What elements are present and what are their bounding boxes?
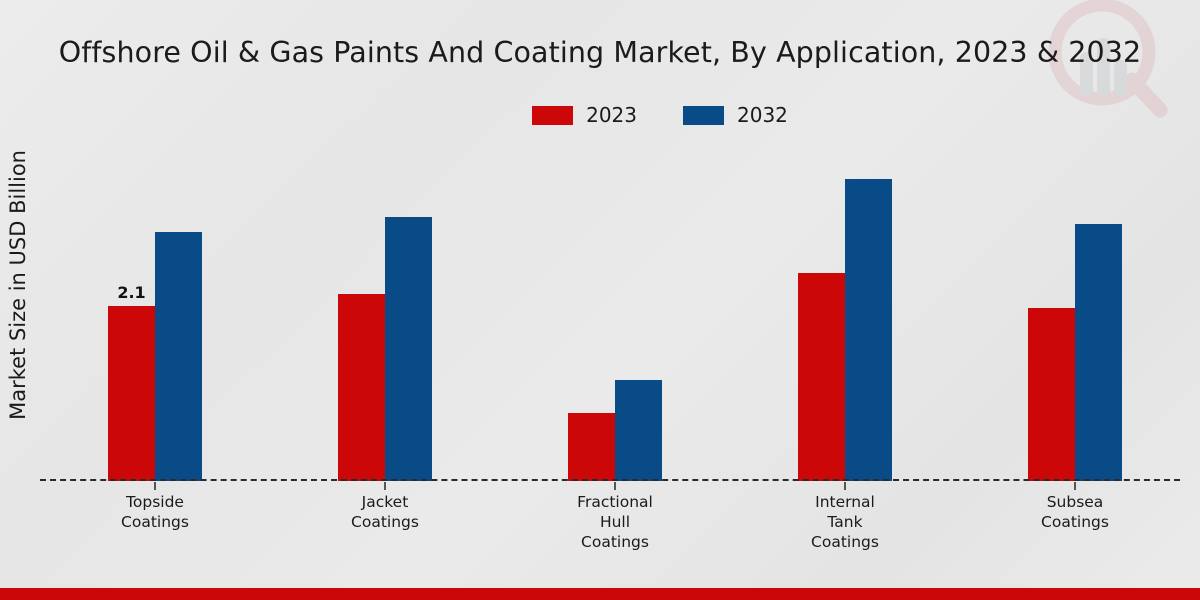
bar-groups: 2.1 bbox=[40, 140, 1190, 481]
legend-item-2023[interactable]: 2023 bbox=[532, 103, 637, 127]
bar-pair bbox=[568, 380, 662, 481]
bar-group bbox=[270, 140, 500, 481]
bar-2032[interactable] bbox=[615, 380, 662, 481]
x-axis-tick bbox=[154, 482, 156, 490]
chart-legend: 2023 2032 bbox=[0, 103, 1200, 127]
legend-swatch-2023 bbox=[532, 106, 573, 125]
bar-group bbox=[500, 140, 730, 481]
y-axis-title: Market Size in USD Billion bbox=[2, 150, 34, 480]
x-axis-label: Topside Coatings bbox=[40, 492, 270, 552]
legend-item-2032[interactable]: 2032 bbox=[683, 103, 788, 127]
bar-2032[interactable] bbox=[1075, 224, 1122, 481]
x-axis-labels: Topside CoatingsJacket CoatingsFractiona… bbox=[40, 492, 1190, 552]
x-axis-tick bbox=[614, 482, 616, 490]
bar-pair bbox=[1028, 224, 1122, 481]
bar-2023[interactable] bbox=[338, 294, 385, 481]
footer-bar bbox=[0, 588, 1200, 600]
bar-pair bbox=[798, 179, 892, 481]
bar-pair: 2.1 bbox=[108, 232, 202, 482]
bar-value-label: 2.1 bbox=[117, 283, 145, 302]
plot-area: 2.1 bbox=[40, 140, 1190, 481]
bar-2032[interactable] bbox=[845, 179, 892, 481]
x-axis-tick bbox=[844, 482, 846, 490]
bar-2023[interactable] bbox=[568, 413, 615, 481]
legend-label-2032: 2032 bbox=[737, 103, 788, 127]
legend-swatch-2032 bbox=[683, 106, 724, 125]
bar-group: 2.1 bbox=[40, 140, 270, 481]
chart-container: Offshore Oil & Gas Paints And Coating Ma… bbox=[0, 0, 1200, 600]
x-axis-label: Subsea Coatings bbox=[960, 492, 1190, 552]
bar-pair bbox=[338, 217, 432, 481]
bar-2032[interactable] bbox=[155, 232, 202, 482]
chart-title: Offshore Oil & Gas Paints And Coating Ma… bbox=[0, 36, 1200, 69]
bar-2023[interactable] bbox=[1028, 308, 1075, 481]
bar-group bbox=[730, 140, 960, 481]
legend-label-2023: 2023 bbox=[586, 103, 637, 127]
bar-2023[interactable] bbox=[798, 273, 845, 481]
x-axis-baseline bbox=[40, 479, 1180, 481]
x-axis-label: Fractional Hull Coatings bbox=[500, 492, 730, 552]
x-axis-tick bbox=[1074, 482, 1076, 490]
y-axis-title-text: Market Size in USD Billion bbox=[6, 150, 30, 420]
bar-2023[interactable]: 2.1 bbox=[108, 306, 155, 481]
bar-2032[interactable] bbox=[385, 217, 432, 481]
x-axis-tick bbox=[384, 482, 386, 490]
x-axis-label: Internal Tank Coatings bbox=[730, 492, 960, 552]
x-axis-label: Jacket Coatings bbox=[270, 492, 500, 552]
bar-group bbox=[960, 140, 1190, 481]
